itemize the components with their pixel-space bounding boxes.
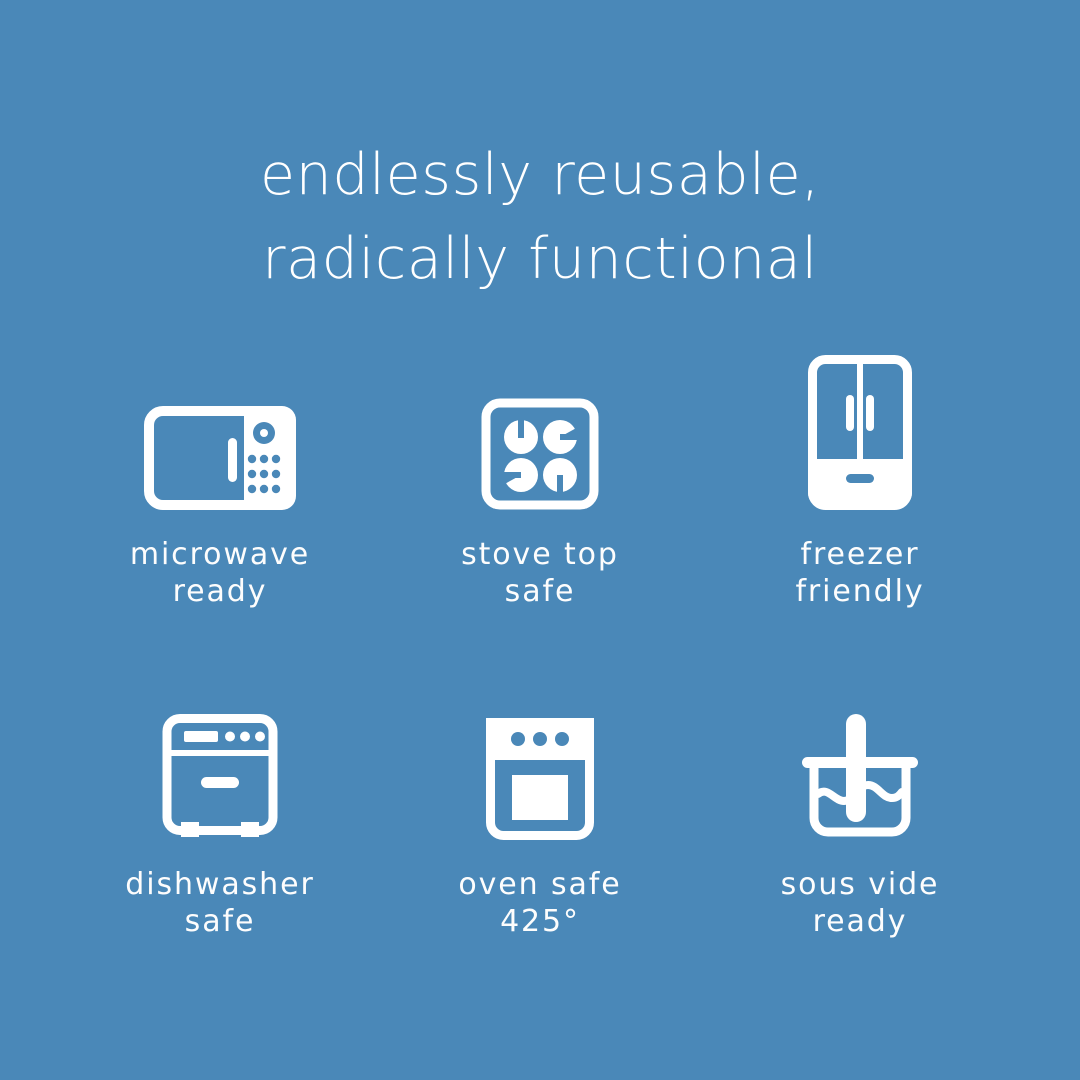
feature-label-line-1: dishwasher	[125, 866, 314, 903]
feature-label-line-2: safe	[125, 903, 314, 940]
feature-cell-sous-vide: sous vide ready	[700, 660, 1020, 990]
stove-top-icon	[481, 330, 599, 510]
dishwasher-icon	[162, 660, 278, 840]
feature-label-freezer: freezer friendly	[795, 536, 924, 610]
feature-label-stove-top: stove top safe	[461, 536, 619, 610]
feature-label-line-1: sous vide	[781, 866, 940, 903]
feature-cell-oven: oven safe 425°	[380, 660, 700, 990]
feature-label-line-2: safe	[461, 573, 619, 610]
sous-vide-icon	[796, 660, 924, 840]
oven-icon	[486, 660, 594, 840]
feature-label-dishwasher: dishwasher safe	[125, 866, 314, 940]
page-title-line-1: endlessly reusable,	[0, 133, 1080, 217]
feature-label-line-2: ready	[130, 573, 310, 610]
feature-poster: endlessly reusable, radically functional	[0, 0, 1080, 1080]
feature-cell-stove-top: stove top safe	[380, 330, 700, 660]
microwave-icon	[144, 330, 296, 510]
feature-label-line-1: stove top	[461, 536, 619, 573]
page-title: endlessly reusable, radically functional	[0, 133, 1080, 301]
feature-label-line-2: 425°	[458, 903, 621, 940]
feature-label-line-2: friendly	[795, 573, 924, 610]
feature-label-line-2: ready	[781, 903, 940, 940]
feature-label-sous-vide: sous vide ready	[781, 866, 940, 940]
feature-label-oven: oven safe 425°	[458, 866, 621, 940]
freezer-icon	[808, 330, 912, 510]
feature-grid: microwave ready	[60, 330, 1020, 990]
feature-cell-freezer: freezer friendly	[700, 330, 1020, 660]
page-title-line-2: radically functional	[0, 217, 1080, 301]
feature-cell-microwave: microwave ready	[60, 330, 380, 660]
feature-cell-dishwasher: dishwasher safe	[60, 660, 380, 990]
feature-label-line-1: freezer	[795, 536, 924, 573]
feature-label-line-1: oven safe	[458, 866, 621, 903]
feature-label-line-1: microwave	[130, 536, 310, 573]
feature-label-microwave: microwave ready	[130, 536, 310, 610]
